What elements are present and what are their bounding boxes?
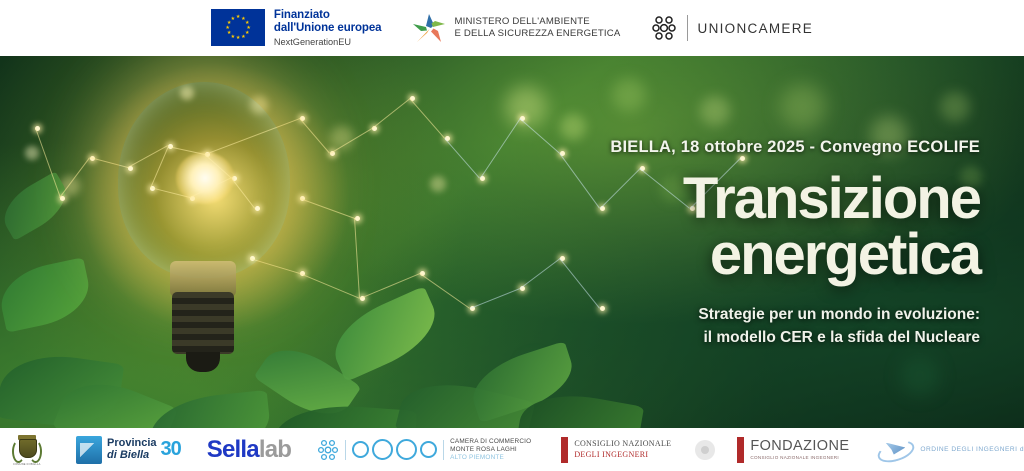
seal-icon bbox=[695, 440, 715, 460]
cni-line1: CONSIGLIO NAZIONALE bbox=[574, 439, 671, 449]
comune-di-biella-logo: COMUNE DI BIELLA bbox=[10, 434, 44, 466]
swoosh-icon bbox=[875, 438, 915, 462]
event-title: Transizione energetica bbox=[550, 171, 980, 282]
provincia-di-biella-logo: Provincia di Biella 30 bbox=[76, 436, 181, 464]
provincia-line1: Provincia bbox=[107, 438, 157, 450]
cni-bar-icon bbox=[561, 437, 568, 463]
comune-caption: COMUNE DI BIELLA bbox=[13, 463, 41, 466]
event-title-line2: energetica bbox=[550, 227, 980, 283]
eu-flag-icon: ★★★★★★★★★★★★ bbox=[211, 9, 265, 46]
eu-line1: Finanziato bbox=[274, 9, 382, 23]
provincia-line2: di Biella bbox=[107, 450, 157, 462]
event-subtitle: Strategie per un mondo in evoluzione: il… bbox=[550, 304, 980, 349]
unioncamere-logo: UNIONCAMERE bbox=[651, 14, 814, 42]
fondazione-bar-icon bbox=[737, 437, 744, 463]
ministero-text: MINISTERO DELL'AMBIENTE E DELLA SICUREZZ… bbox=[454, 16, 620, 41]
star-icon bbox=[411, 11, 447, 45]
camera-line1: CAMERA DI COMMERCIO bbox=[450, 438, 531, 446]
ministero-ambiente-logo: MINISTERO DELL'AMBIENTE E DELLA SICUREZZ… bbox=[411, 11, 620, 45]
seal-logo bbox=[695, 440, 715, 460]
fondazione-line1: FONDAZIONE bbox=[750, 438, 849, 455]
fondazione-text: FONDAZIONE CONSIGLIO NAZIONALE INGEGNERI bbox=[750, 438, 849, 461]
camera-line2: MONTE ROSA LAGHI bbox=[450, 446, 531, 454]
eu-line2: dall'Unione europea bbox=[274, 22, 382, 36]
sellalab-logo: Sellalab bbox=[207, 436, 291, 464]
lightbulb-glow bbox=[176, 152, 234, 204]
unioncamere-divider bbox=[687, 15, 688, 41]
eu-line3: NextGenerationEU bbox=[274, 37, 382, 48]
eu-funding-text: Finanziato dall'Unione europea NextGener… bbox=[274, 9, 382, 48]
ministero-line1: MINISTERO DELL'AMBIENTE bbox=[454, 16, 620, 28]
lightbulb-screw-base bbox=[172, 292, 234, 354]
fondazione-line2: CONSIGLIO NAZIONALE INGEGNERI bbox=[750, 455, 849, 461]
consiglio-nazionale-ingegneri-logo: CONSIGLIO NAZIONALE DEGLI INGEGNERI bbox=[561, 437, 671, 463]
provincia-shield-icon bbox=[76, 436, 102, 464]
ordine-ingegneri-text: ORDINE DEGLI INGEGNERI della PROVINCIA D… bbox=[920, 446, 1024, 453]
sellalab-part1: Sella bbox=[207, 436, 259, 464]
event-subtitle-line2: il modello CER e la sfida del Nucleare bbox=[550, 327, 980, 349]
camera-commercio-text: CAMERA DI COMMERCIO MONTE ROSA LAGHI ALT… bbox=[450, 438, 531, 462]
event-banner: ★★★★★★★★★★★★ Finanziato dall'Unione euro… bbox=[0, 0, 1024, 471]
ministero-line2: E DELLA SICUREZZA ENERGETICA bbox=[454, 28, 620, 40]
provincia-anniversary: 30 bbox=[161, 438, 181, 461]
fondazione-logo: FONDAZIONE CONSIGLIO NAZIONALE INGEGNERI bbox=[737, 437, 849, 463]
sellalab-part2: lab bbox=[259, 436, 291, 464]
unioncamere-mark-icon bbox=[651, 14, 677, 42]
event-kicker: BIELLA, 18 ottobre 2025 - Convegno ECOLI… bbox=[550, 138, 980, 157]
camera-divider-2 bbox=[443, 440, 444, 460]
hero-section: BIELLA, 18 ottobre 2025 - Convegno ECOLI… bbox=[0, 56, 1024, 428]
camera-commercio-logo: CAMERA DI COMMERCIO MONTE ROSA LAGHI ALT… bbox=[317, 438, 531, 462]
camera-divider-1 bbox=[345, 440, 346, 460]
cni-text: CONSIGLIO NAZIONALE DEGLI INGEGNERI bbox=[574, 439, 671, 460]
cni-line2: DEGLI INGEGNERI bbox=[574, 450, 671, 460]
municipal-crest-icon: COMUNE DI BIELLA bbox=[10, 434, 44, 466]
funding-logo-bar: ★★★★★★★★★★★★ Finanziato dall'Unione euro… bbox=[0, 0, 1024, 56]
camera-commercio-mark-icon bbox=[317, 438, 339, 462]
camera-line3: ALTO PIEMONTE bbox=[450, 454, 531, 462]
hero-text-block: BIELLA, 18 ottobre 2025 - Convegno ECOLI… bbox=[550, 138, 980, 349]
provincia-text: Provincia di Biella bbox=[107, 438, 157, 461]
camera-rings-icon bbox=[352, 439, 437, 460]
eu-funding-logo: ★★★★★★★★★★★★ Finanziato dall'Unione euro… bbox=[211, 9, 382, 48]
partner-logo-bar: COMUNE DI BIELLA Provincia di Biella 30 … bbox=[0, 428, 1024, 471]
event-subtitle-line1: Strategie per un mondo in evoluzione: bbox=[550, 304, 980, 326]
ordine-ingegneri-biella-logo: ORDINE DEGLI INGEGNERI della PROVINCIA D… bbox=[875, 438, 1024, 462]
unioncamere-name: UNIONCAMERE bbox=[698, 21, 814, 36]
